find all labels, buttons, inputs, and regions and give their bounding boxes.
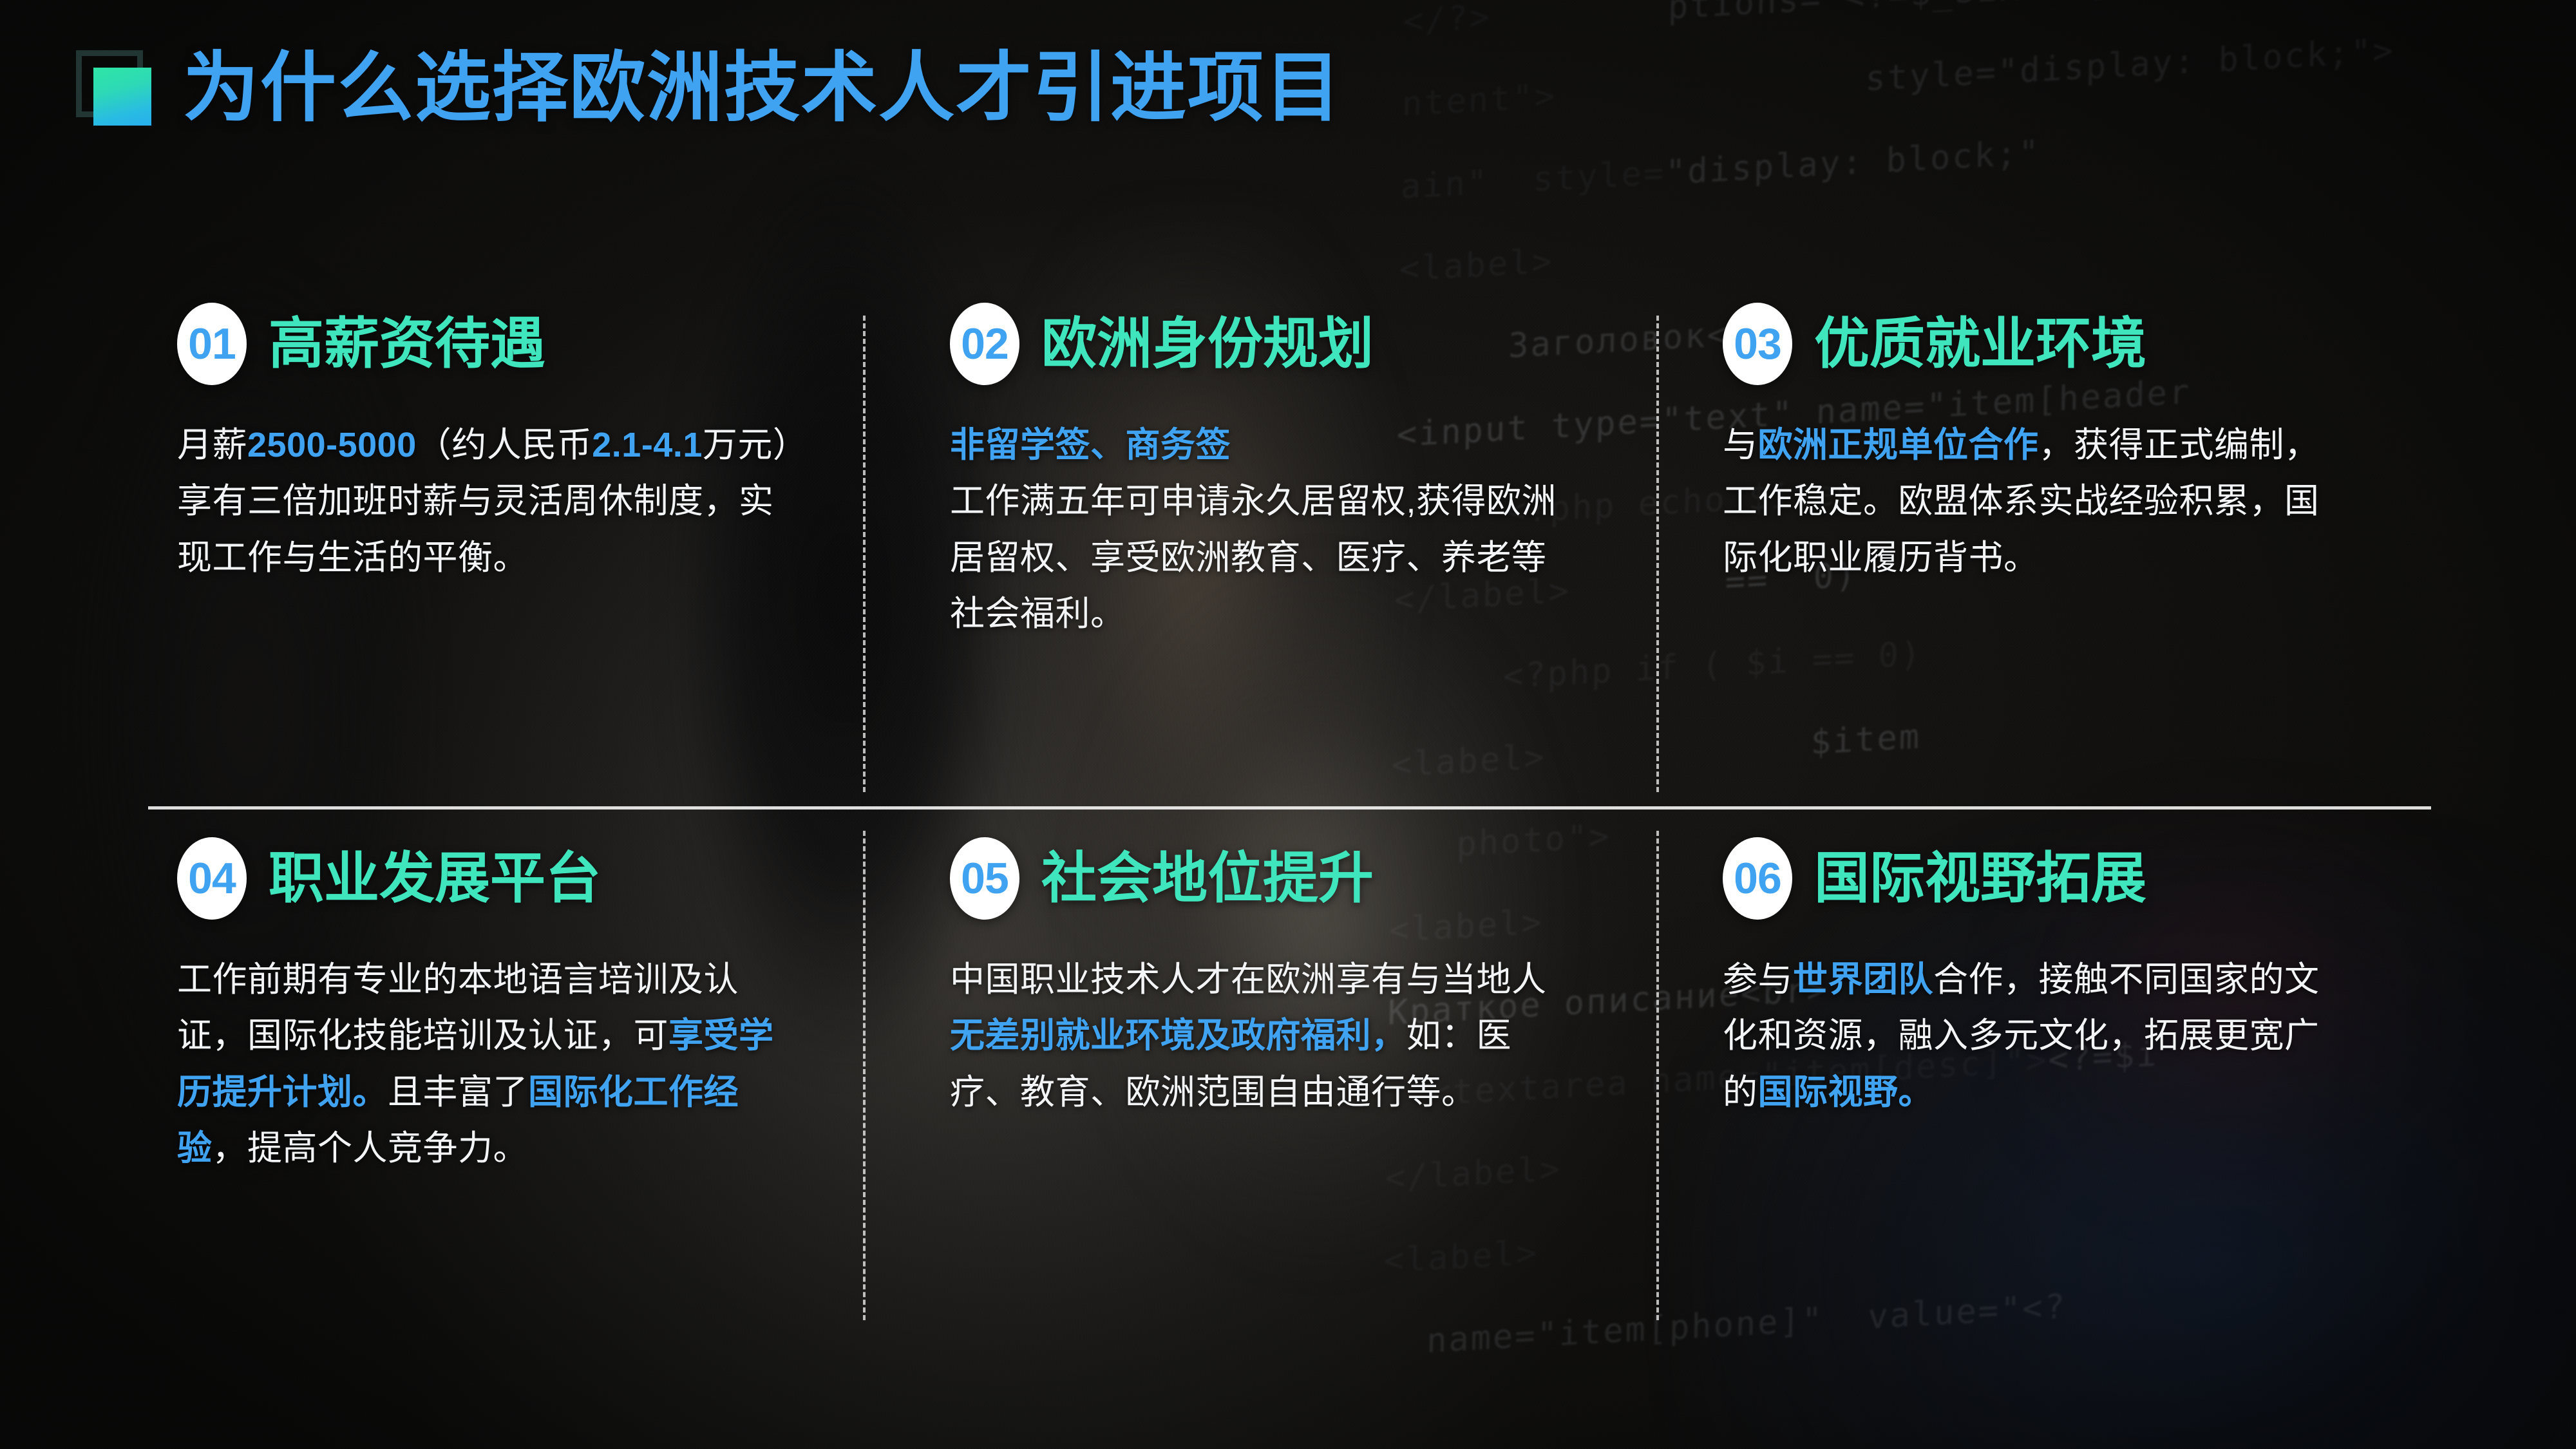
feature-card: 05 社会地位提升 中国职业技术人才在欧洲享有与当地人无差别就业环境及政府福利，…	[950, 837, 1594, 1121]
body-text: （约人民币	[417, 426, 592, 464]
card-title: 国际视野拓展	[1814, 849, 2146, 907]
body-text: 工作前期有专业的本地语言培训及认证，国际化技能培训及认证，可	[177, 960, 739, 1055]
card-number-badge: 05	[950, 837, 1019, 920]
card-header: 02 欧洲身份规划	[950, 303, 1594, 385]
card-number-badge: 02	[950, 303, 1019, 385]
card-header: 04 职业发展平台	[177, 837, 821, 920]
gradient-square-icon	[76, 50, 152, 126]
card-header: 03 优质就业环境	[1723, 303, 2367, 385]
card-number-badge: 04	[177, 837, 247, 920]
card-number-badge: 06	[1723, 837, 1792, 920]
feature-card: 01 高薪资待遇 月薪2500-5000（约人民币2.1-4.1万元）享有三倍加…	[177, 303, 821, 586]
card-body: 工作前期有专业的本地语言培训及认证，国际化技能培训及认证，可享受学历提升计划。且…	[177, 952, 795, 1177]
body-text: 工作满五年可申请永久居留权,获得欧洲居留权、享受欧洲教育、医疗、养老等社会福利。	[950, 482, 1557, 633]
body-text: 且丰富了	[388, 1073, 528, 1112]
logo-fill	[93, 68, 151, 126]
highlighted-text: 国际视野。	[1758, 1073, 1934, 1112]
card-header: 06 国际视野拓展	[1723, 837, 2367, 920]
body-text: 与	[1723, 426, 1758, 464]
feature-card: 02 欧洲身份规划 非留学签、商务签工作满五年可申请永久居留权,获得欧洲居留权、…	[950, 303, 1594, 643]
card-header: 05 社会地位提升	[950, 837, 1594, 920]
feature-card: 04 职业发展平台 工作前期有专业的本地语言培训及认证，国际化技能培训及认证，可…	[177, 837, 821, 1177]
highlighted-text: 非留学签、商务签	[950, 426, 1231, 464]
slide-root: </?> ptions="<?=$_SERVER[ REQUEST_ ntent…	[0, 0, 2576, 1449]
card-body: 与欧洲正规单位合作，获得正式编制，工作稳定。欧盟体系实战经验积累，国际化职业履历…	[1723, 417, 2341, 586]
card-body: 中国职业技术人才在欧洲享有与当地人无差别就业环境及政府福利，如：医疗、教育、欧洲…	[950, 952, 1568, 1121]
card-number-badge: 01	[177, 303, 247, 385]
card-body: 参与世界团队合作，接触不同国家的文化和资源，融入多元文化，拓展更宽广的国际视野。	[1723, 952, 2341, 1121]
card-title: 欧洲身份规划	[1041, 315, 1374, 373]
card-title: 优质就业环境	[1814, 315, 2146, 373]
body-text: 参与	[1723, 960, 1793, 999]
card-body: 月薪2500-5000（约人民币2.1-4.1万元）享有三倍加班时薪与灵活周休制…	[177, 417, 795, 586]
card-body: 非留学签、商务签工作满五年可申请永久居留权,获得欧洲居留权、享受欧洲教育、医疗、…	[950, 417, 1568, 643]
card-header: 01 高薪资待遇	[177, 303, 821, 385]
highlighted-text: 无差别就业环境及政府福利，	[950, 1016, 1406, 1055]
card-title: 高薪资待遇	[269, 315, 545, 373]
body-text: 月薪	[177, 426, 247, 464]
body-text: ，提高个人竞争力。	[213, 1129, 529, 1168]
highlighted-text: 欧洲正规单位合作	[1758, 426, 2039, 464]
highlighted-text: 2500-5000	[247, 426, 417, 464]
card-title: 社会地位提升	[1041, 849, 1374, 907]
feature-card: 03 优质就业环境 与欧洲正规单位合作，获得正式编制，工作稳定。欧盟体系实战经验…	[1723, 303, 2367, 586]
highlighted-text: 2.1-4.1	[592, 426, 703, 464]
highlighted-text: 世界团队	[1793, 960, 1933, 999]
page-title: 为什么选择欧洲技术人才引进项目	[183, 50, 1342, 126]
card-title: 职业发展平台	[269, 849, 601, 907]
body-text: 中国职业技术人才在欧洲享有与当地人	[950, 960, 1547, 999]
feature-card: 06 国际视野拓展 参与世界团队合作，接触不同国家的文化和资源，融入多元文化，拓…	[1723, 837, 2367, 1121]
feature-grid: 01 高薪资待遇 月薪2500-5000（约人民币2.1-4.1万元）享有三倍加…	[148, 303, 2434, 1372]
card-number-badge: 03	[1723, 303, 1792, 385]
page-header: 为什么选择欧洲技术人才引进项目	[76, 50, 1342, 126]
